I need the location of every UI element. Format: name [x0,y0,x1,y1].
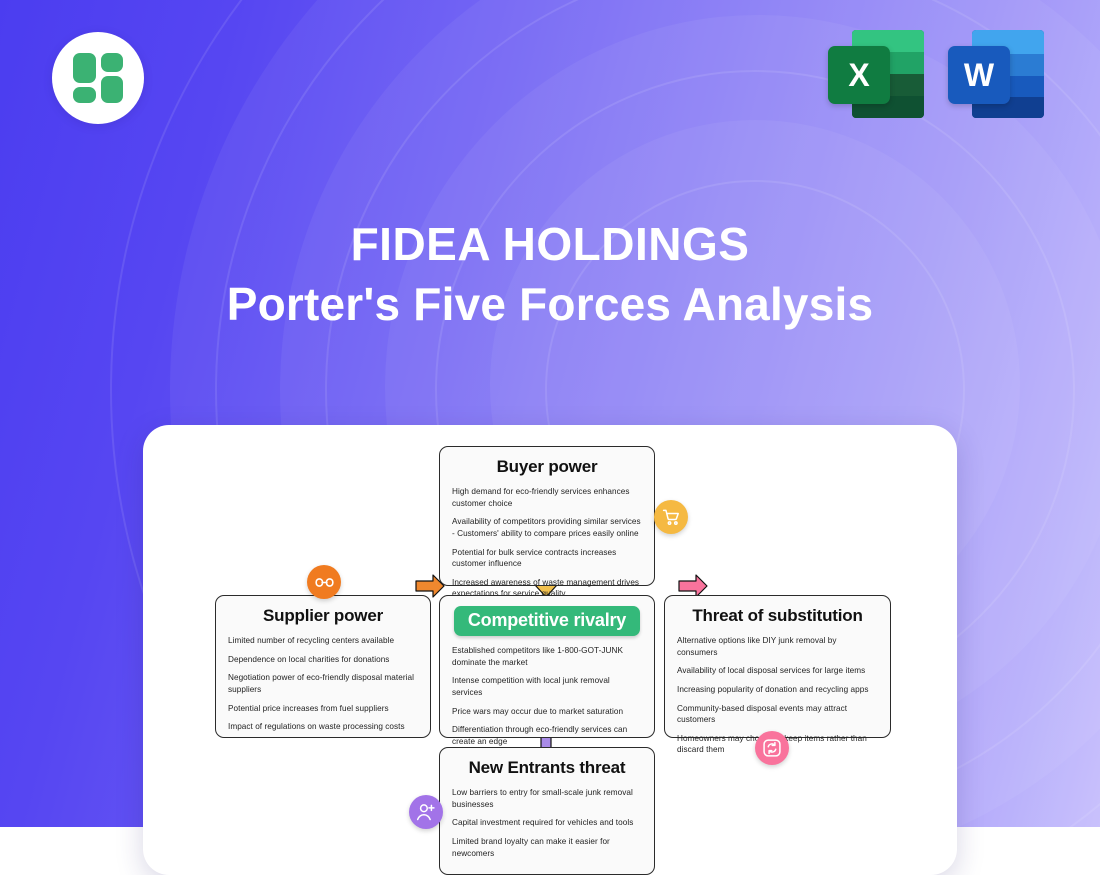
add-user-badge[interactable] [409,795,443,829]
box-title: Supplier power [228,606,418,626]
word-icon[interactable]: W [948,30,1044,118]
force-box-supplier-power[interactable]: Supplier power Limited number of recycli… [215,595,431,738]
page-title: Porter's Five Forces Analysis [0,271,1100,338]
link-badge[interactable] [307,565,341,599]
list-item: Availability of competitors providing si… [452,516,642,539]
box-item-list: Limited number of recycling centers avai… [228,635,418,733]
box-title: Competitive rivalry [454,606,640,636]
force-box-buyer-power[interactable]: Buyer power High demand for eco-friendly… [439,446,655,586]
list-item: Intense competition with local junk remo… [452,675,642,698]
box-item-list: High demand for eco-friendly services en… [452,486,642,600]
list-item: Availability of local disposal services … [677,665,878,677]
add-user-icon [416,802,436,822]
logo-tile-1 [73,53,96,83]
logo-grid-icon [73,53,123,103]
list-item: Potential price increases from fuel supp… [228,703,418,715]
list-item: Alternative options like DIY junk remova… [677,635,878,658]
list-item: Established competitors like 1-800-GOT-J… [452,645,642,668]
porters-five-forces-diagram: Buyer power High demand for eco-friendly… [143,425,957,875]
shopping-cart-icon [662,508,681,527]
link-icon [315,573,334,592]
list-item: Increasing popularity of donation and re… [677,684,878,696]
shopping-cart-badge[interactable] [654,500,688,534]
list-item: Limited brand loyalty can make it easier… [452,836,642,859]
list-item: Limited number of recycling centers avai… [228,635,418,647]
title-block: FIDEA HOLDINGS Porter's Five Forces Anal… [0,218,1100,338]
diagram-card: Buyer power High demand for eco-friendly… [143,425,957,875]
word-letter: W [948,46,1010,104]
box-title: Threat of substitution [677,606,878,626]
excel-letter: X [828,46,890,104]
logo-tile-2 [101,53,123,72]
list-item: Capital investment required for vehicles… [452,817,642,829]
app-logo[interactable] [52,32,144,124]
list-item: Impact of regulations on waste processin… [228,721,418,733]
list-item: Community-based disposal events may attr… [677,703,878,726]
list-item: Price wars may occur due to market satur… [452,706,642,718]
list-item: Dependence on local charities for donati… [228,654,418,666]
list-item: Negotiation power of eco-friendly dispos… [228,672,418,695]
logo-tile-3 [73,87,96,103]
office-export-icons: X W [828,30,1044,118]
company-title: FIDEA HOLDINGS [0,218,1100,271]
list-item: High demand for eco-friendly services en… [452,486,642,509]
list-item: Differentiation through eco-friendly ser… [452,724,642,747]
force-box-threat-of-substitution[interactable]: Threat of substitution Alternative optio… [664,595,891,738]
logo-tile-4 [101,76,123,103]
box-title: Buyer power [452,457,642,477]
sync-icon [762,738,782,758]
box-title: New Entrants threat [452,758,642,778]
force-box-competitive-rivalry[interactable]: Competitive rivalry Established competit… [439,595,655,738]
box-item-list: Low barriers to entry for small-scale ju… [452,787,642,859]
force-box-new-entrants-threat[interactable]: New Entrants threat Low barriers to entr… [439,747,655,875]
sync-badge[interactable] [755,731,789,765]
list-item: Low barriers to entry for small-scale ju… [452,787,642,810]
list-item: Potential for bulk service contracts inc… [452,547,642,570]
excel-icon[interactable]: X [828,30,924,118]
